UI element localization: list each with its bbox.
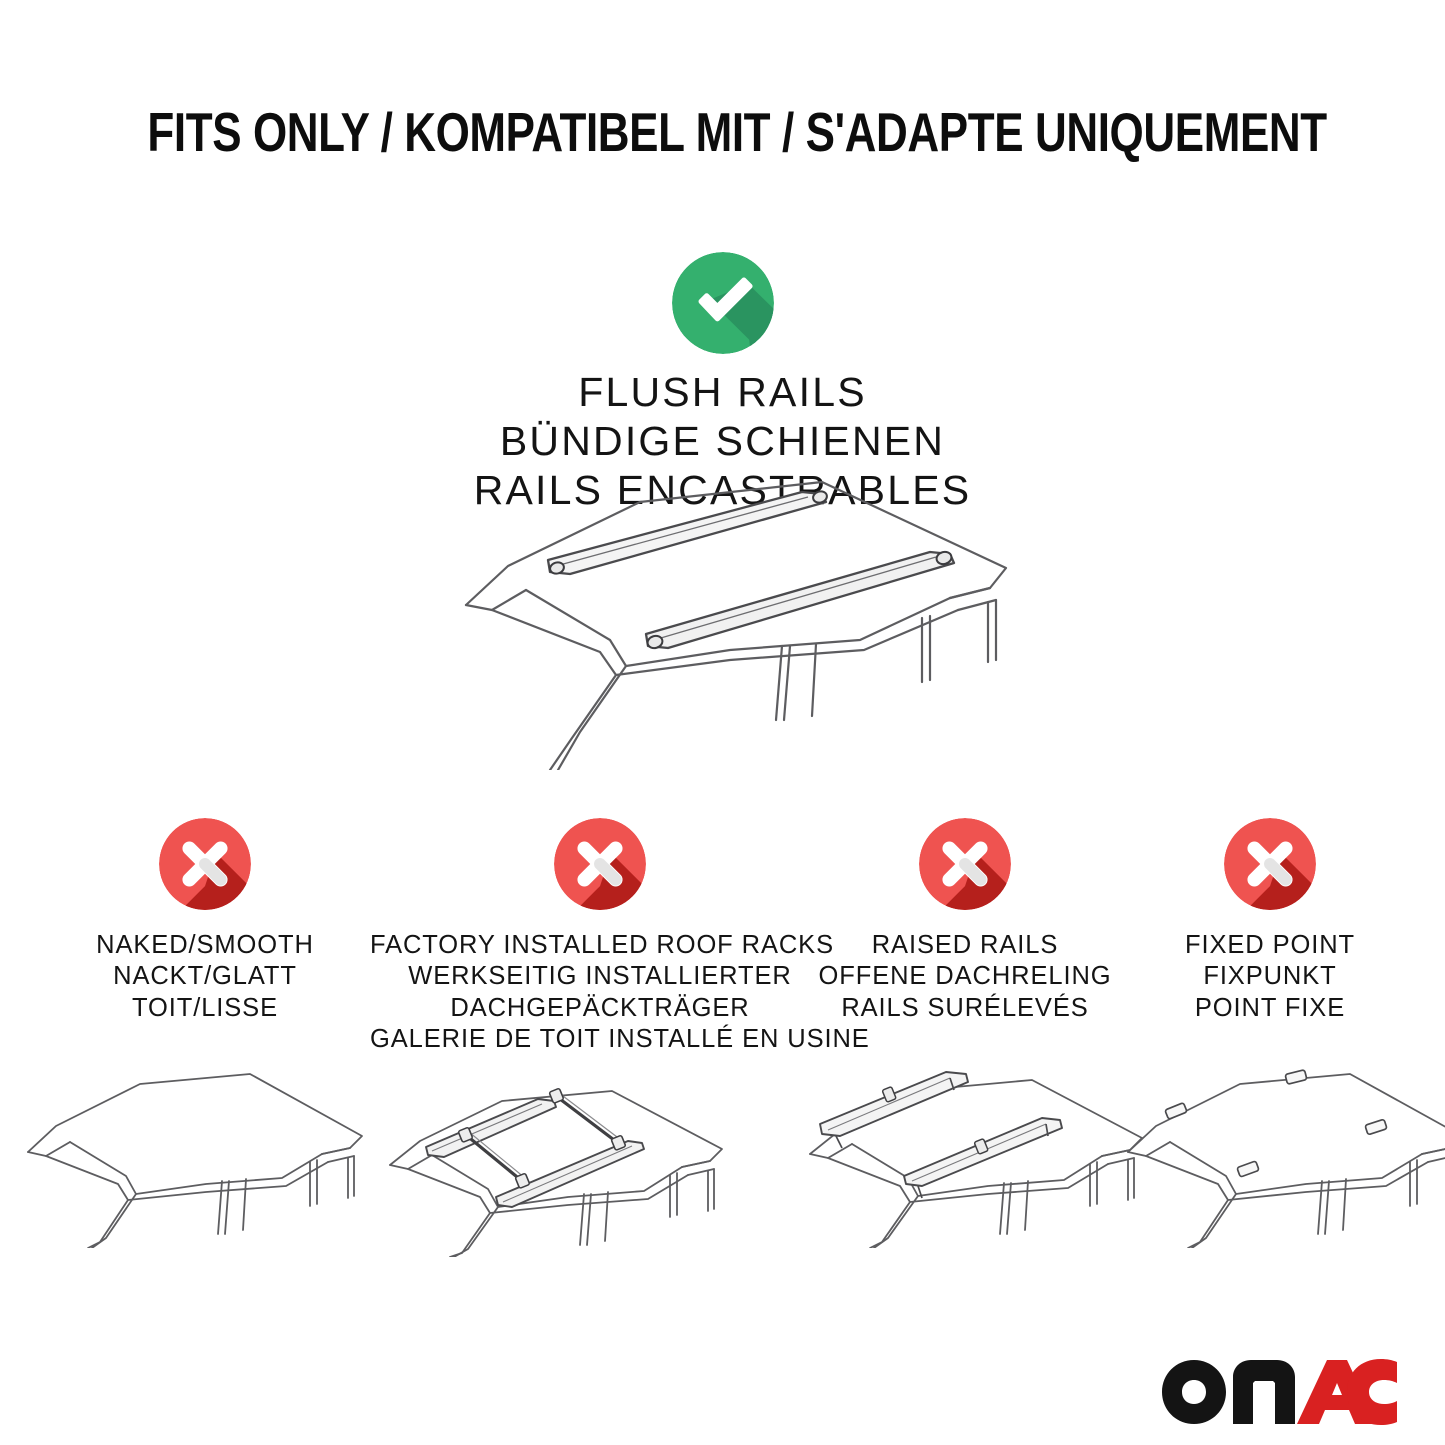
incompatible-section: NAKED/SMOOTH NACKT/GLATT TOIT/LISSE [0,818,1445,1238]
car-roof-with-raised-rails-illustration [790,1048,1140,1248]
car-roof-with-factory-crossbars-illustration [370,1057,830,1257]
incompatible-label-de: NACKT/GLATT [10,961,400,992]
omac-logo [1161,1359,1397,1425]
car-roof-fixed-point-illustration [1110,1048,1430,1248]
page-title: FITS ONLY / KOMPATIBEL MIT / S'ADAPTE UN… [0,104,1445,162]
red-x-circle-icon [919,818,1011,910]
incompatible-label-de: OFFENE DACHRELING [790,961,1140,992]
incompatible-label-de-2: DACHGEPÄCKTRÄGER [370,993,830,1024]
car-roof-bare-illustration [10,1048,400,1248]
incompatible-label-en: FACTORY INSTALLED ROOF RACKS [370,930,830,961]
incompatible-label-fr: GALERIE DE TOIT INSTALLÉ EN USINE [370,1024,830,1055]
page-title-text: FITS ONLY / KOMPATIBEL MIT / S'ADAPTE UN… [147,104,1326,162]
red-x-circle-icon [159,818,251,910]
incompatible-item-factory-roof-racks: FACTORY INSTALLED ROOF RACKS WERKSEITIG … [370,818,830,1257]
incompatible-label-en: RAISED RAILS [790,930,1140,961]
red-x-circle-icon [554,818,646,910]
incompatible-label-en: FIXED POINT [1110,930,1430,961]
compatible-label-en: FLUSH RAILS [0,368,1445,417]
incompatible-label-fr: POINT FIXE [1110,993,1430,1024]
incompatible-label-fr: TOIT/LISSE [10,993,400,1024]
red-x-circle-icon [1224,818,1316,910]
incompatible-item-raised-rails: RAISED RAILS OFFENE DACHRELING RAILS SUR… [790,818,1140,1248]
compatible-label-de: BÜNDIGE SCHIENEN [0,417,1445,466]
car-roof-with-flush-rails-illustration [430,470,1030,770]
incompatible-label-en: NAKED/SMOOTH [10,930,400,961]
incompatible-label-de-1: WERKSEITIG INSTALLIERTER [370,961,830,992]
green-check-circle-icon [672,252,774,354]
incompatible-label-de: FIXPUNKT [1110,961,1430,992]
incompatible-item-fixed-point: FIXED POINT FIXPUNKT POINT FIXE [1110,818,1430,1248]
incompatible-label-fr: RAILS SURÉLEVÉS [790,993,1140,1024]
incompatible-item-naked-smooth: NAKED/SMOOTH NACKT/GLATT TOIT/LISSE [10,818,400,1248]
